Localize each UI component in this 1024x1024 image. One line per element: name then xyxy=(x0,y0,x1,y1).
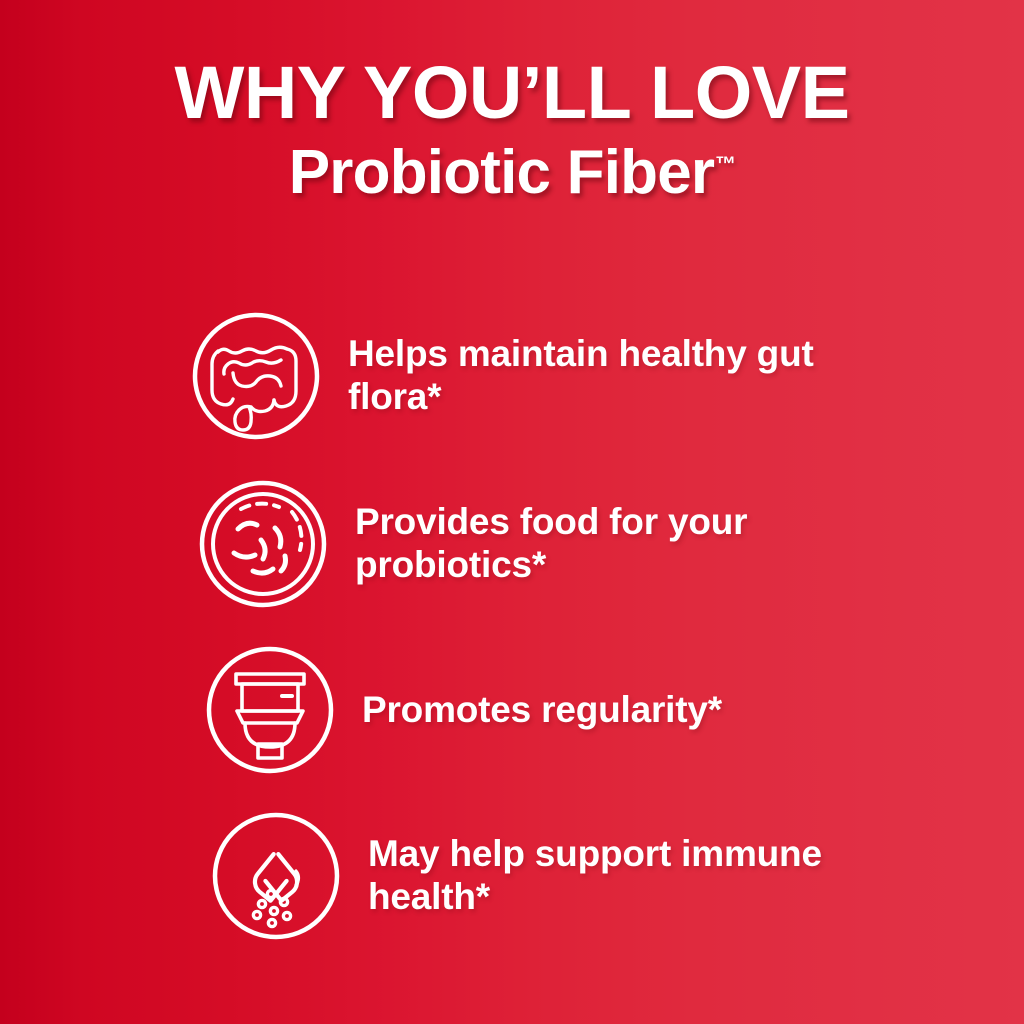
benefit-item: May help support immune health* xyxy=(210,810,928,942)
headline-primary: WHY YOU’LL LOVE xyxy=(0,56,1024,130)
benefit-label: Helps maintain healthy gut flora* xyxy=(348,333,908,419)
promotional-poster: WHY YOU’LL LOVE Probiotic Fiber™ xyxy=(0,0,1024,1024)
toilet-icon xyxy=(204,644,336,776)
benefit-label: Provides food for your probiotics* xyxy=(355,501,915,587)
petri-dish-bacteria-icon xyxy=(197,478,329,610)
open-capsule-granules-icon xyxy=(210,810,342,942)
benefit-label: May help support immune health* xyxy=(368,833,928,919)
headline-secondary-wrap: Probiotic Fiber™ xyxy=(0,142,1024,204)
trademark-symbol: ™ xyxy=(715,153,736,176)
benefit-item: Provides food for your probiotics* xyxy=(197,478,915,610)
intestine-icon xyxy=(190,310,322,442)
benefit-item: Helps maintain healthy gut flora* xyxy=(190,310,908,442)
benefit-item: Promotes regularity* xyxy=(204,644,722,776)
headline-block: WHY YOU’LL LOVE Probiotic Fiber™ xyxy=(0,56,1024,204)
benefit-label: Promotes regularity* xyxy=(362,689,722,732)
headline-secondary: Probiotic Fiber xyxy=(289,138,714,207)
